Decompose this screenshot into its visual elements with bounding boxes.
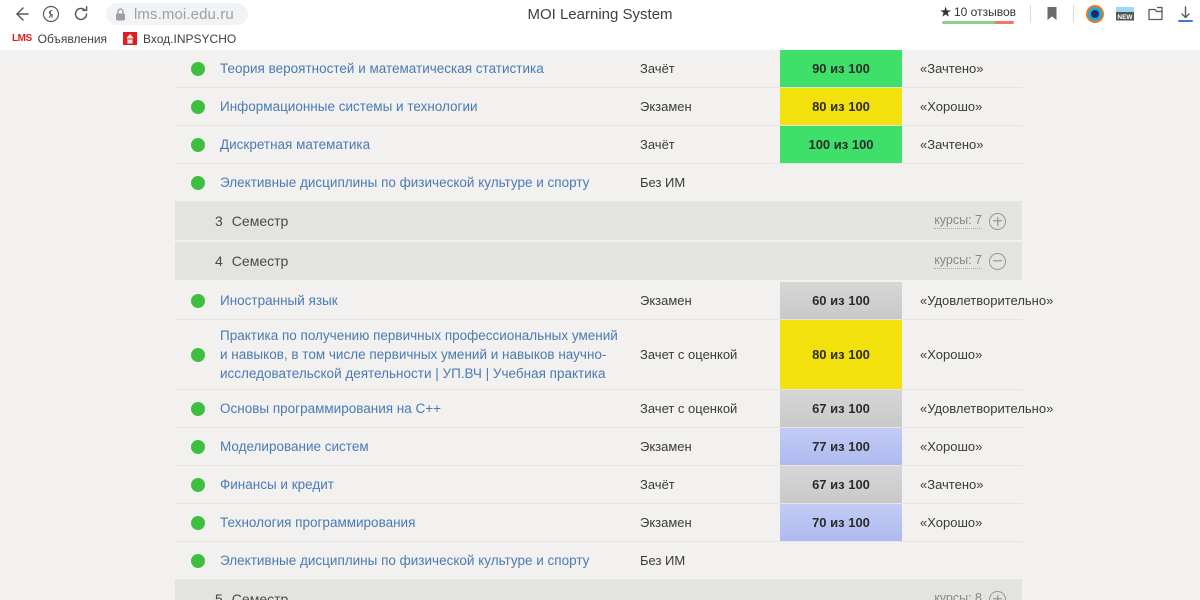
bookmark-flag-icon[interactable] bbox=[1037, 0, 1067, 28]
semester-header-row[interactable]: 5Семестркурсы: 8 bbox=[175, 580, 1022, 600]
minus-circle-icon[interactable] bbox=[989, 253, 1006, 270]
course-score: 77 из 100 bbox=[780, 428, 902, 465]
yandex-logo-icon[interactable] bbox=[36, 1, 66, 27]
semester-header-row[interactable]: 4Семестркурсы: 7 bbox=[175, 242, 1022, 282]
reviews-badge[interactable]: ★ 10 отзывов bbox=[932, 5, 1024, 24]
profile-avatar-icon[interactable] bbox=[1080, 0, 1110, 28]
course-name-link[interactable]: Элективные дисциплины по физической куль… bbox=[220, 173, 640, 192]
course-name-link[interactable]: Моделирование систем bbox=[220, 437, 640, 456]
course-control-type: Экзамен bbox=[640, 515, 780, 530]
gradebook-table: Теория вероятностей и математическая ста… bbox=[175, 50, 1022, 600]
course-name-link[interactable]: Элективные дисциплины по физической куль… bbox=[220, 551, 640, 570]
course-status-cell bbox=[175, 138, 220, 152]
course-score: 90 из 100 bbox=[780, 50, 902, 87]
inpsycho-logo-icon bbox=[123, 32, 137, 45]
status-dot-icon bbox=[191, 62, 205, 76]
semester-courses-count[interactable]: курсы: 7 bbox=[934, 253, 982, 269]
course-verdict: «Зачтено» bbox=[902, 137, 1022, 152]
course-verdict: «Зачтено» bbox=[902, 477, 1022, 492]
course-status-cell bbox=[175, 100, 220, 114]
semester-number: 5 bbox=[215, 591, 223, 600]
course-name-link[interactable]: Финансы и кредит bbox=[220, 475, 640, 494]
plus-circle-icon[interactable] bbox=[989, 591, 1006, 600]
status-dot-icon bbox=[191, 554, 205, 568]
semester-header-row[interactable]: 3Семестркурсы: 7 bbox=[175, 202, 1022, 242]
course-name-link[interactable]: Технология программирования bbox=[220, 513, 640, 532]
course-score bbox=[780, 164, 902, 201]
status-dot-icon bbox=[191, 138, 205, 152]
address-bar-url: lms.moi.edu.ru bbox=[134, 6, 234, 23]
course-verdict: «Зачтено» bbox=[902, 61, 1022, 76]
course-status-cell bbox=[175, 402, 220, 416]
course-row[interactable]: Практика по получению первичных професси… bbox=[175, 320, 1022, 390]
course-verdict: «Удовлетворительно» bbox=[902, 293, 1053, 308]
course-status-cell bbox=[175, 554, 220, 568]
course-verdict: «Удовлетворительно» bbox=[902, 401, 1053, 416]
back-arrow-icon[interactable] bbox=[6, 1, 36, 27]
semester-number: 4 bbox=[215, 253, 223, 269]
address-bar[interactable]: lms.moi.edu.ru bbox=[106, 3, 248, 25]
course-status-cell bbox=[175, 62, 220, 76]
status-dot-icon bbox=[191, 100, 205, 114]
course-row[interactable]: Иностранный языкЭкзамен60 из 100«Удовлет… bbox=[175, 282, 1022, 320]
bookmark-item-inpsycho[interactable]: Вход.INPSYCHO bbox=[115, 29, 244, 49]
course-row[interactable]: Моделирование системЭкзамен77 из 100«Хор… bbox=[175, 428, 1022, 466]
course-score: 80 из 100 bbox=[780, 320, 902, 389]
bookmark-item-announcements[interactable]: LMS Объявления bbox=[4, 29, 115, 49]
collections-icon[interactable] bbox=[1140, 0, 1170, 28]
new-badge-icon[interactable]: NEW bbox=[1110, 0, 1140, 28]
semester-courses-count[interactable]: курсы: 8 bbox=[934, 591, 982, 600]
course-name-link[interactable]: Основы программирования на С++ bbox=[220, 399, 640, 418]
status-dot-icon bbox=[191, 516, 205, 530]
bookmarks-bar: LMS Объявления Вход.INPSYCHO bbox=[0, 28, 1200, 50]
course-control-type: Экзамен bbox=[640, 99, 780, 114]
toolbar-divider bbox=[1030, 5, 1031, 23]
course-verdict: «Хорошо» bbox=[902, 439, 1022, 454]
course-control-type: Экзамен bbox=[640, 439, 780, 454]
course-name-link[interactable]: Дискретная математика bbox=[220, 135, 640, 154]
reload-icon[interactable] bbox=[66, 1, 96, 27]
course-status-cell bbox=[175, 348, 220, 362]
course-status-cell bbox=[175, 440, 220, 454]
course-score: 80 из 100 bbox=[780, 88, 902, 125]
course-verdict: «Хорошо» bbox=[902, 347, 1022, 362]
course-name-link[interactable]: Теория вероятностей и математическая ста… bbox=[220, 59, 640, 78]
course-row[interactable]: Элективные дисциплины по физической куль… bbox=[175, 164, 1022, 202]
course-control-type: Зачет с оценкой bbox=[640, 347, 780, 362]
course-status-cell bbox=[175, 294, 220, 308]
course-status-cell bbox=[175, 176, 220, 190]
status-dot-icon bbox=[191, 348, 205, 362]
course-status-cell bbox=[175, 516, 220, 530]
course-row[interactable]: Теория вероятностей и математическая ста… bbox=[175, 50, 1022, 88]
reviews-label: 10 отзывов bbox=[954, 5, 1016, 19]
course-control-type: Без ИМ bbox=[640, 175, 780, 190]
status-dot-icon bbox=[191, 402, 205, 416]
course-row[interactable]: Дискретная математикаЗачёт100 из 100«Зач… bbox=[175, 126, 1022, 164]
course-score: 70 из 100 bbox=[780, 504, 902, 541]
semester-label: Семестр bbox=[232, 253, 289, 269]
course-score: 67 из 100 bbox=[780, 466, 902, 503]
status-dot-icon bbox=[191, 176, 205, 190]
course-row[interactable]: Информационные системы и технологииЭкзам… bbox=[175, 88, 1022, 126]
semester-label: Семестр bbox=[232, 591, 289, 600]
svg-text:NEW: NEW bbox=[1117, 14, 1133, 21]
course-verdict: «Хорошо» bbox=[902, 99, 1022, 114]
semester-courses-count[interactable]: курсы: 7 bbox=[934, 213, 982, 229]
course-control-type: Зачёт bbox=[640, 477, 780, 492]
course-control-type: Зачёт bbox=[640, 137, 780, 152]
course-name-link[interactable]: Иностранный язык bbox=[220, 291, 640, 310]
course-score: 100 из 100 bbox=[780, 126, 902, 163]
bookmark-label-2: Вход.INPSYCHO bbox=[143, 32, 236, 46]
course-name-link[interactable]: Практика по получению первичных професси… bbox=[220, 326, 640, 383]
semester-number: 3 bbox=[215, 213, 223, 229]
status-dot-icon bbox=[191, 478, 205, 492]
course-verdict: «Хорошо» bbox=[902, 515, 1022, 530]
course-name-link[interactable]: Информационные системы и технологии bbox=[220, 97, 640, 116]
course-row[interactable]: Финансы и кредитЗачёт67 из 100«Зачтено» bbox=[175, 466, 1022, 504]
star-icon: ★ bbox=[940, 5, 951, 19]
lock-icon bbox=[114, 8, 127, 21]
gradebook-page: Теория вероятностей и математическая ста… bbox=[0, 50, 1200, 600]
toolbar-right-group: ★ 10 отзывов NEW bbox=[932, 0, 1200, 28]
course-status-cell bbox=[175, 478, 220, 492]
course-control-type: Зачет с оценкой bbox=[640, 401, 780, 416]
course-row[interactable]: Основы программирования на С++Зачет с оц… bbox=[175, 390, 1022, 428]
semester-label: Семестр bbox=[232, 213, 289, 229]
status-dot-icon bbox=[191, 440, 205, 454]
bookmark-label: Объявления bbox=[38, 32, 107, 46]
course-score: 60 из 100 bbox=[780, 282, 902, 319]
lms-logo-icon: LMS bbox=[12, 33, 32, 44]
plus-circle-icon[interactable] bbox=[989, 213, 1006, 230]
reviews-ratio-bar bbox=[942, 21, 1014, 24]
course-row[interactable]: Технология программированияЭкзамен70 из … bbox=[175, 504, 1022, 542]
toolbar-divider-2 bbox=[1073, 5, 1074, 23]
course-control-type: Зачёт bbox=[640, 61, 780, 76]
status-dot-icon bbox=[191, 294, 205, 308]
course-row[interactable]: Элективные дисциплины по физической куль… bbox=[175, 542, 1022, 580]
course-score: 67 из 100 bbox=[780, 390, 902, 427]
course-control-type: Экзамен bbox=[640, 293, 780, 308]
course-score bbox=[780, 542, 902, 579]
browser-toolbar: lms.moi.edu.ru ★ 10 отзывов bbox=[0, 0, 1200, 28]
downloads-icon[interactable] bbox=[1170, 0, 1200, 28]
course-control-type: Без ИМ bbox=[640, 553, 780, 568]
